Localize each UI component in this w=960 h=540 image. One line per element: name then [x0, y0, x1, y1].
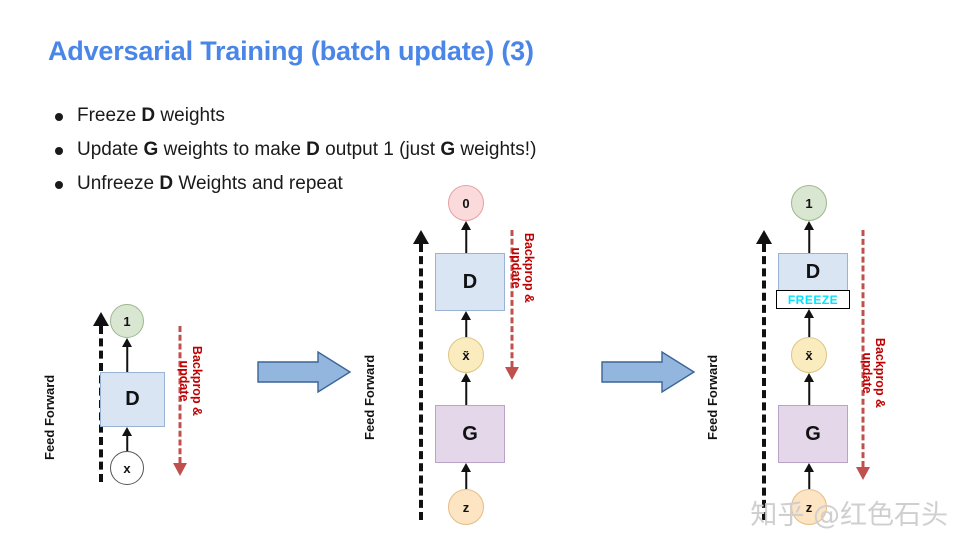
discriminator-box: D: [435, 253, 505, 311]
connector-arrow: [118, 427, 136, 451]
freeze-badge: FREEZE: [776, 290, 850, 309]
bullet-dot-icon: [55, 181, 63, 189]
watermark: 知乎 @红色石头: [750, 493, 948, 532]
diagram-stage-3: Feed Forward Backprop &update 1 D FREEZE…: [728, 180, 938, 530]
bullet-text: Update G weights to make D output 1 (jus…: [77, 138, 536, 162]
list-item: Freeze D weights: [55, 104, 715, 130]
bullet-text: Freeze D weights: [77, 104, 225, 128]
connector-arrow: [800, 309, 818, 337]
flow-arrow-1-icon: [256, 350, 352, 394]
feed-forward-label: Feed Forward: [705, 355, 720, 440]
bullet-dot-icon: [55, 147, 63, 155]
bullet-text: Unfreeze D Weights and repeat: [77, 172, 343, 196]
noise-node: z: [448, 489, 484, 525]
flow-arrow-2-icon: [600, 350, 696, 394]
feed-forward-label: Feed Forward: [42, 375, 57, 460]
generator-box: G: [435, 405, 505, 463]
connector-arrow: [118, 338, 136, 372]
connector-arrow: [457, 463, 475, 489]
connector-arrow: [800, 373, 818, 405]
input-node: x: [110, 451, 144, 485]
feed-forward-label: Feed Forward: [362, 355, 377, 440]
connector-arrow: [457, 311, 475, 337]
connector-arrow: [800, 221, 818, 253]
generated-node: x̃: [448, 337, 484, 373]
connector-arrow: [800, 463, 818, 489]
diagram-stage-1: Feed Forward Backprop &update 1 D x: [55, 290, 245, 510]
backprop-label: Backprop &update: [177, 338, 203, 424]
connector-arrow: [457, 221, 475, 253]
feed-forward-arrow: [756, 230, 772, 520]
feed-forward-arrow: [413, 230, 429, 520]
diagram-stage-2: Feed Forward Backprop &update 0 D x̃ G: [385, 180, 585, 530]
output-node: 1: [791, 185, 827, 221]
list-item: Update G weights to make D output 1 (jus…: [55, 138, 715, 164]
output-node: 0: [448, 185, 484, 221]
generated-node: x̃: [791, 337, 827, 373]
page-title: Adversarial Training (batch update) (3): [48, 36, 534, 67]
discriminator-box: D: [100, 372, 165, 427]
connector-arrow: [457, 373, 475, 405]
generator-box: G: [778, 405, 848, 463]
slide-canvas: Adversarial Training (batch update) (3) …: [0, 0, 960, 540]
backprop-label: Backprop &update: [509, 225, 535, 311]
bullet-dot-icon: [55, 113, 63, 121]
output-node: 1: [110, 304, 144, 338]
backprop-label: Backprop &update: [860, 330, 886, 416]
